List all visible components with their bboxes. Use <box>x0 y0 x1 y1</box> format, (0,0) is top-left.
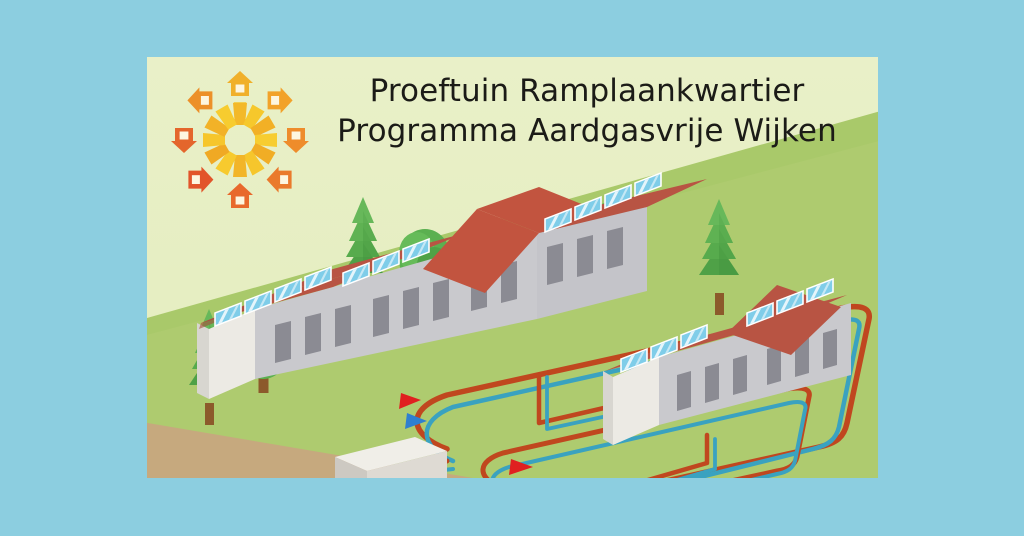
scene-illustration <box>147 57 878 478</box>
supply-arrow-1 <box>399 393 421 409</box>
supply-spur-row2 <box>617 435 707 478</box>
house-row-2 <box>603 279 851 445</box>
screenshot-root: Proeftuin Ramplaankwartier Programma Aar… <box>0 0 1024 536</box>
conifer-tree-2 <box>699 199 739 315</box>
illustration-panel: Proeftuin Ramplaankwartier Programma Aar… <box>147 57 878 478</box>
